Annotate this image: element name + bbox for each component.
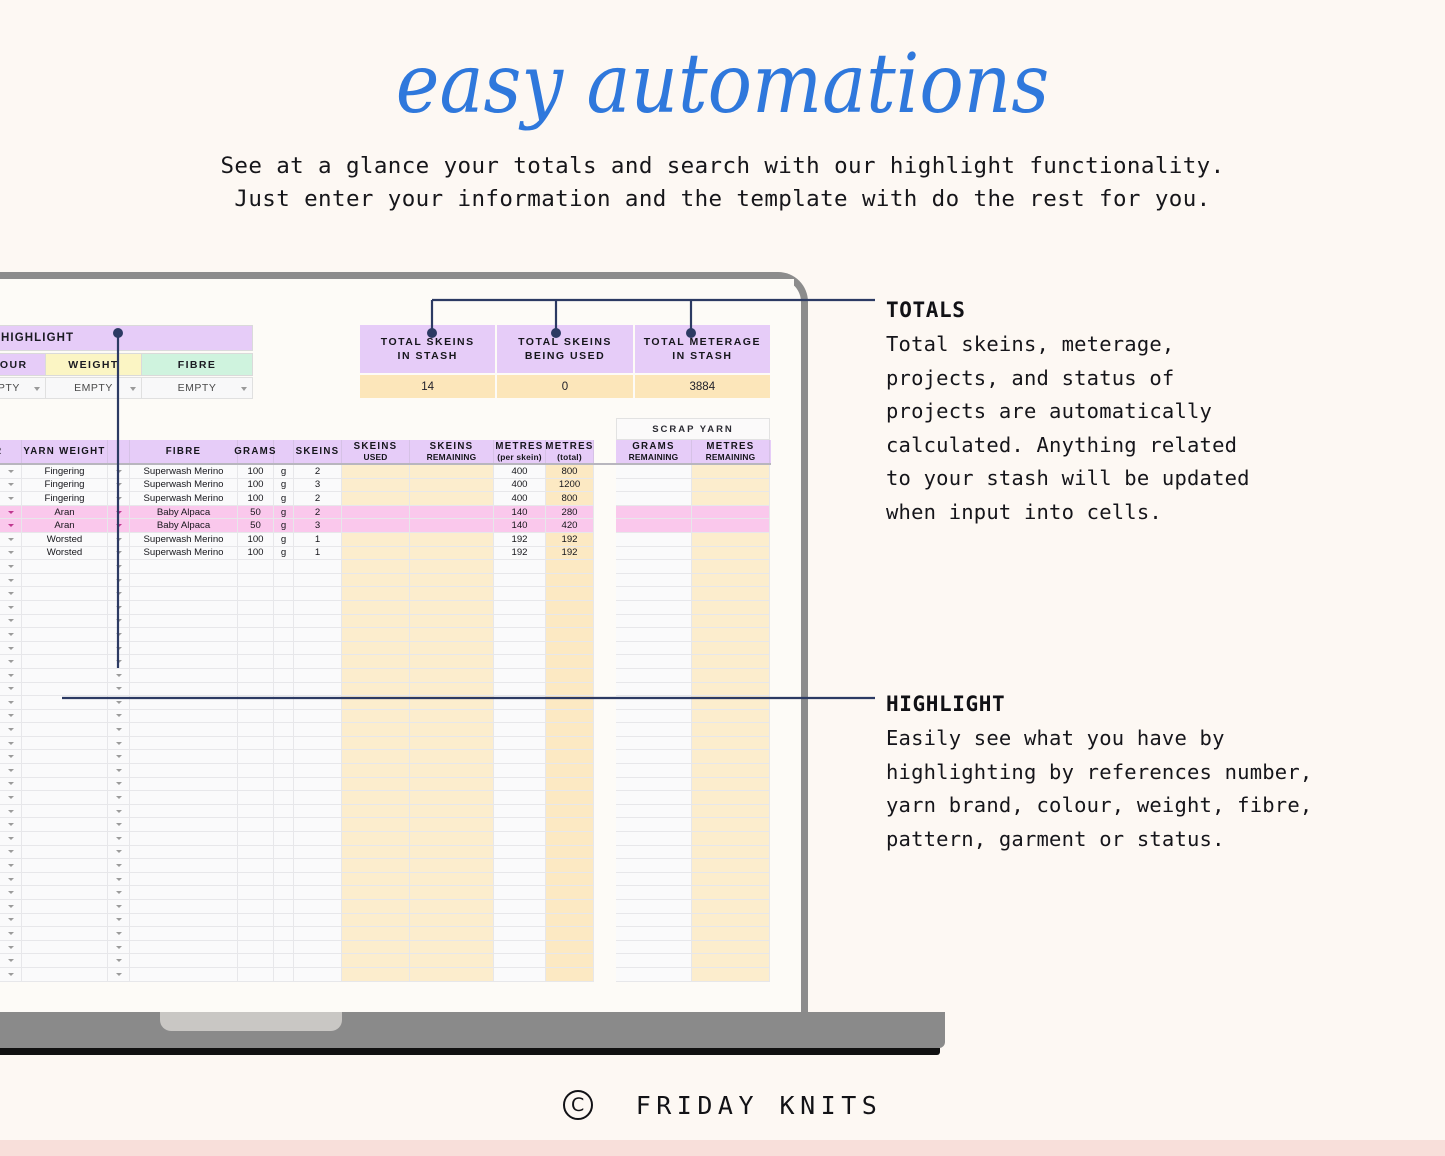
cell-yarn-weight[interactable]: Fingering <box>22 479 108 493</box>
cell-yarn-weight-dropdown[interactable] <box>108 832 130 846</box>
cell-metres-per-skein[interactable]: 140 <box>494 506 546 520</box>
cell-metres-per-skein[interactable] <box>494 710 546 724</box>
cell-metres-per-skein[interactable] <box>494 560 546 574</box>
cell-skeins[interactable] <box>294 914 342 928</box>
cell-fibre[interactable] <box>130 846 238 860</box>
cell-colour-dropdown[interactable] <box>0 642 22 656</box>
cell-yarn-weight[interactable] <box>22 968 108 982</box>
cell-skeins[interactable] <box>294 832 342 846</box>
cell-colour-dropdown[interactable] <box>0 465 22 479</box>
cell-metres-per-skein[interactable] <box>494 750 546 764</box>
cell-fibre[interactable] <box>130 628 238 642</box>
cell-grams[interactable] <box>238 574 274 588</box>
cell-metres-per-skein[interactable]: 400 <box>494 492 546 506</box>
cell-fibre[interactable] <box>130 601 238 615</box>
table-row-empty[interactable] <box>0 723 771 737</box>
cell-colour-dropdown[interactable] <box>0 615 22 629</box>
cell-grams[interactable]: 100 <box>238 547 274 561</box>
cell-fibre[interactable] <box>130 723 238 737</box>
cell-colour-dropdown[interactable] <box>0 859 22 873</box>
cell-yarn-weight[interactable] <box>22 723 108 737</box>
table-row-empty[interactable] <box>0 710 771 724</box>
cell-colour-dropdown[interactable] <box>0 533 22 547</box>
cell-grams[interactable]: 50 <box>238 519 274 533</box>
cell-colour-dropdown[interactable] <box>0 560 22 574</box>
table-row[interactable]: FingeringSuperwash Merino100g2400800 <box>0 492 771 506</box>
cell-grams[interactable] <box>238 818 274 832</box>
cell-yarn-weight-dropdown[interactable] <box>108 519 130 533</box>
cell-grams[interactable] <box>238 791 274 805</box>
cell-yarn-weight[interactable] <box>22 669 108 683</box>
cell-grams[interactable] <box>238 805 274 819</box>
cell-yarn-weight[interactable] <box>22 628 108 642</box>
table-row[interactable]: AranBaby Alpaca50g3140420 <box>0 519 771 533</box>
cell-yarn-weight[interactable] <box>22 900 108 914</box>
cell-grams[interactable] <box>238 778 274 792</box>
cell-metres-per-skein[interactable] <box>494 886 546 900</box>
cell-metres-per-skein[interactable] <box>494 900 546 914</box>
cell-skeins[interactable] <box>294 968 342 982</box>
cell-skeins[interactable] <box>294 710 342 724</box>
cell-yarn-weight-dropdown[interactable] <box>108 927 130 941</box>
cell-metres-per-skein[interactable] <box>494 683 546 697</box>
cell-yarn-weight-dropdown[interactable] <box>108 615 130 629</box>
cell-metres-per-skein[interactable] <box>494 628 546 642</box>
cell-skeins[interactable] <box>294 601 342 615</box>
cell-yarn-weight-dropdown[interactable] <box>108 750 130 764</box>
cell-yarn-weight-dropdown[interactable] <box>108 587 130 601</box>
cell-skeins[interactable]: 3 <box>294 519 342 533</box>
cell-skeins[interactable] <box>294 696 342 710</box>
cell-skeins[interactable] <box>294 669 342 683</box>
cell-metres-per-skein[interactable] <box>494 764 546 778</box>
cell-grams[interactable] <box>238 968 274 982</box>
table-row-empty[interactable] <box>0 968 771 982</box>
table-row-empty[interactable] <box>0 587 771 601</box>
cell-colour-dropdown[interactable] <box>0 628 22 642</box>
cell-skeins[interactable] <box>294 655 342 669</box>
cell-colour-dropdown[interactable] <box>0 968 22 982</box>
cell-skeins[interactable] <box>294 927 342 941</box>
table-row-empty[interactable] <box>0 791 771 805</box>
cell-skeins[interactable] <box>294 873 342 887</box>
cell-yarn-weight[interactable] <box>22 655 108 669</box>
table-row[interactable]: FingeringSuperwash Merino100g2400800 <box>0 465 771 479</box>
cell-yarn-weight[interactable]: Aran <box>22 519 108 533</box>
cell-grams[interactable] <box>238 655 274 669</box>
table-row-empty[interactable] <box>0 873 771 887</box>
cell-skeins[interactable]: 2 <box>294 465 342 479</box>
cell-metres-per-skein[interactable] <box>494 642 546 656</box>
cell-yarn-weight-dropdown[interactable] <box>108 465 130 479</box>
cell-yarn-weight-dropdown[interactable] <box>108 805 130 819</box>
cell-yarn-weight[interactable] <box>22 859 108 873</box>
cell-colour-dropdown[interactable] <box>0 791 22 805</box>
cell-colour-dropdown[interactable] <box>0 547 22 561</box>
cell-yarn-weight[interactable]: Fingering <box>22 492 108 506</box>
cell-yarn-weight[interactable] <box>22 832 108 846</box>
table-row-empty[interactable] <box>0 655 771 669</box>
cell-yarn-weight[interactable] <box>22 927 108 941</box>
cell-metres-per-skein[interactable]: 400 <box>494 479 546 493</box>
cell-skeins[interactable] <box>294 791 342 805</box>
cell-yarn-weight-dropdown[interactable] <box>108 900 130 914</box>
cell-grams[interactable]: 50 <box>238 506 274 520</box>
cell-skeins[interactable] <box>294 764 342 778</box>
table-row-empty[interactable] <box>0 846 771 860</box>
cell-fibre[interactable] <box>130 683 238 697</box>
cell-grams[interactable] <box>238 927 274 941</box>
table-row-empty[interactable] <box>0 764 771 778</box>
cell-colour-dropdown[interactable] <box>0 764 22 778</box>
table-row-empty[interactable] <box>0 574 771 588</box>
cell-grams[interactable] <box>238 859 274 873</box>
table-row-empty[interactable] <box>0 954 771 968</box>
cell-colour-dropdown[interactable] <box>0 778 22 792</box>
cell-yarn-weight[interactable] <box>22 818 108 832</box>
table-row-empty[interactable] <box>0 642 771 656</box>
cell-skeins[interactable] <box>294 574 342 588</box>
cell-yarn-weight-dropdown[interactable] <box>108 696 130 710</box>
cell-skeins[interactable]: 2 <box>294 492 342 506</box>
cell-skeins[interactable] <box>294 778 342 792</box>
cell-yarn-weight[interactable] <box>22 778 108 792</box>
cell-metres-per-skein[interactable]: 192 <box>494 533 546 547</box>
cell-yarn-weight[interactable] <box>22 683 108 697</box>
cell-colour-dropdown[interactable] <box>0 846 22 860</box>
table-row-empty[interactable] <box>0 832 771 846</box>
cell-yarn-weight-dropdown[interactable] <box>108 954 130 968</box>
cell-yarn-weight-dropdown[interactable] <box>108 737 130 751</box>
cell-grams[interactable] <box>238 941 274 955</box>
cell-yarn-weight[interactable] <box>22 764 108 778</box>
cell-metres-per-skein[interactable] <box>494 574 546 588</box>
cell-metres-per-skein[interactable] <box>494 696 546 710</box>
cell-yarn-weight-dropdown[interactable] <box>108 628 130 642</box>
cell-yarn-weight[interactable] <box>22 737 108 751</box>
cell-skeins[interactable] <box>294 615 342 629</box>
cell-yarn-weight-dropdown[interactable] <box>108 886 130 900</box>
cell-skeins[interactable]: 1 <box>294 547 342 561</box>
table-row[interactable]: WorstedSuperwash Merino100g1192192 <box>0 547 771 561</box>
cell-metres-per-skein[interactable] <box>494 832 546 846</box>
cell-metres-per-skein[interactable] <box>494 873 546 887</box>
cell-yarn-weight-dropdown[interactable] <box>108 560 130 574</box>
cell-metres-per-skein[interactable] <box>494 601 546 615</box>
cell-colour-dropdown[interactable] <box>0 805 22 819</box>
table-row-empty[interactable] <box>0 818 771 832</box>
cell-colour-dropdown[interactable] <box>0 723 22 737</box>
cell-fibre[interactable]: Baby Alpaca <box>130 519 238 533</box>
cell-metres-per-skein[interactable] <box>494 723 546 737</box>
cell-yarn-weight[interactable]: Fingering <box>22 465 108 479</box>
table-row[interactable]: WorstedSuperwash Merino100g1192192 <box>0 533 771 547</box>
table-row-empty[interactable] <box>0 886 771 900</box>
cell-skeins[interactable] <box>294 859 342 873</box>
table-row[interactable]: FingeringSuperwash Merino100g34001200 <box>0 479 771 493</box>
cell-yarn-weight-dropdown[interactable] <box>108 533 130 547</box>
table-row-empty[interactable] <box>0 805 771 819</box>
cell-colour-dropdown[interactable] <box>0 574 22 588</box>
cell-fibre[interactable] <box>130 873 238 887</box>
cell-yarn-weight-dropdown[interactable] <box>108 683 130 697</box>
table-row-empty[interactable] <box>0 927 771 941</box>
cell-yarn-weight-dropdown[interactable] <box>108 601 130 615</box>
cell-fibre[interactable]: Superwash Merino <box>130 547 238 561</box>
cell-metres-per-skein[interactable]: 140 <box>494 519 546 533</box>
cell-skeins[interactable]: 3 <box>294 479 342 493</box>
cell-fibre[interactable] <box>130 914 238 928</box>
cell-grams[interactable] <box>238 914 274 928</box>
cell-grams[interactable] <box>238 900 274 914</box>
cell-skeins[interactable] <box>294 683 342 697</box>
cell-skeins[interactable] <box>294 642 342 656</box>
cell-colour-dropdown[interactable] <box>0 506 22 520</box>
cell-yarn-weight-dropdown[interactable] <box>108 492 130 506</box>
cell-grams[interactable] <box>238 601 274 615</box>
cell-grams[interactable]: 100 <box>238 465 274 479</box>
cell-fibre[interactable] <box>130 832 238 846</box>
cell-grams[interactable]: 100 <box>238 533 274 547</box>
cell-fibre[interactable] <box>130 642 238 656</box>
cell-fibre[interactable] <box>130 954 238 968</box>
cell-skeins[interactable] <box>294 900 342 914</box>
cell-yarn-weight[interactable] <box>22 791 108 805</box>
cell-colour-dropdown[interactable] <box>0 492 22 506</box>
cell-fibre[interactable]: Baby Alpaca <box>130 506 238 520</box>
table-row-empty[interactable] <box>0 560 771 574</box>
cell-colour-dropdown[interactable] <box>0 914 22 928</box>
cell-fibre[interactable] <box>130 750 238 764</box>
cell-metres-per-skein[interactable] <box>494 859 546 873</box>
cell-metres-per-skein[interactable] <box>494 778 546 792</box>
cell-yarn-weight-dropdown[interactable] <box>108 642 130 656</box>
cell-fibre[interactable] <box>130 805 238 819</box>
cell-grams[interactable] <box>238 873 274 887</box>
cell-colour-dropdown[interactable] <box>0 941 22 955</box>
cell-fibre[interactable] <box>130 859 238 873</box>
cell-fibre[interactable] <box>130 737 238 751</box>
cell-yarn-weight[interactable] <box>22 560 108 574</box>
cell-skeins[interactable] <box>294 954 342 968</box>
table-row-empty[interactable] <box>0 900 771 914</box>
cell-metres-per-skein[interactable] <box>494 655 546 669</box>
cell-skeins[interactable] <box>294 846 342 860</box>
table-row-empty[interactable] <box>0 601 771 615</box>
filter-select-weight[interactable]: EMPTY <box>46 377 142 399</box>
cell-yarn-weight[interactable] <box>22 941 108 955</box>
table-row-empty[interactable] <box>0 778 771 792</box>
cell-fibre[interactable]: Superwash Merino <box>130 533 238 547</box>
cell-fibre[interactable]: Superwash Merino <box>130 492 238 506</box>
cell-colour-dropdown[interactable] <box>0 832 22 846</box>
cell-yarn-weight-dropdown[interactable] <box>108 506 130 520</box>
cell-fibre[interactable] <box>130 927 238 941</box>
table-row-empty[interactable] <box>0 628 771 642</box>
cell-metres-per-skein[interactable] <box>494 791 546 805</box>
cell-grams[interactable] <box>238 886 274 900</box>
cell-yarn-weight[interactable]: Worsted <box>22 533 108 547</box>
cell-metres-per-skein[interactable] <box>494 927 546 941</box>
cell-skeins[interactable] <box>294 560 342 574</box>
cell-yarn-weight[interactable] <box>22 615 108 629</box>
cell-skeins[interactable] <box>294 818 342 832</box>
cell-metres-per-skein[interactable] <box>494 914 546 928</box>
table-row-empty[interactable] <box>0 669 771 683</box>
cell-yarn-weight[interactable] <box>22 574 108 588</box>
cell-metres-per-skein[interactable] <box>494 805 546 819</box>
cell-yarn-weight[interactable] <box>22 873 108 887</box>
cell-metres-per-skein[interactable]: 400 <box>494 465 546 479</box>
cell-yarn-weight-dropdown[interactable] <box>108 723 130 737</box>
cell-fibre[interactable] <box>130 778 238 792</box>
cell-colour-dropdown[interactable] <box>0 655 22 669</box>
cell-yarn-weight-dropdown[interactable] <box>108 941 130 955</box>
cell-yarn-weight[interactable] <box>22 710 108 724</box>
cell-yarn-weight[interactable] <box>22 587 108 601</box>
cell-yarn-weight[interactable] <box>22 886 108 900</box>
cell-fibre[interactable] <box>130 615 238 629</box>
cell-fibre[interactable] <box>130 669 238 683</box>
cell-fibre[interactable] <box>130 710 238 724</box>
cell-colour-dropdown[interactable] <box>0 710 22 724</box>
cell-skeins[interactable] <box>294 737 342 751</box>
cell-skeins[interactable] <box>294 886 342 900</box>
cell-fibre[interactable]: Superwash Merino <box>130 479 238 493</box>
cell-colour-dropdown[interactable] <box>0 818 22 832</box>
cell-metres-per-skein[interactable] <box>494 846 546 860</box>
cell-skeins[interactable] <box>294 750 342 764</box>
cell-fibre[interactable] <box>130 968 238 982</box>
cell-grams[interactable] <box>238 683 274 697</box>
cell-yarn-weight-dropdown[interactable] <box>108 846 130 860</box>
cell-grams[interactable] <box>238 696 274 710</box>
table-row-empty[interactable] <box>0 750 771 764</box>
cell-fibre[interactable] <box>130 941 238 955</box>
cell-fibre[interactable] <box>130 818 238 832</box>
cell-fibre[interactable] <box>130 791 238 805</box>
cell-skeins[interactable] <box>294 723 342 737</box>
cell-grams[interactable] <box>238 669 274 683</box>
cell-grams[interactable] <box>238 615 274 629</box>
cell-colour-dropdown[interactable] <box>0 519 22 533</box>
cell-colour-dropdown[interactable] <box>0 927 22 941</box>
cell-metres-per-skein[interactable] <box>494 941 546 955</box>
cell-colour-dropdown[interactable] <box>0 954 22 968</box>
cell-fibre[interactable] <box>130 886 238 900</box>
cell-grams[interactable] <box>238 846 274 860</box>
cell-yarn-weight-dropdown[interactable] <box>108 859 130 873</box>
table-row-empty[interactable] <box>0 941 771 955</box>
cell-metres-per-skein[interactable] <box>494 615 546 629</box>
cell-grams[interactable]: 100 <box>238 479 274 493</box>
cell-fibre[interactable] <box>130 764 238 778</box>
cell-grams[interactable] <box>238 954 274 968</box>
cell-metres-per-skein[interactable]: 192 <box>494 547 546 561</box>
cell-colour-dropdown[interactable] <box>0 750 22 764</box>
cell-grams[interactable] <box>238 587 274 601</box>
table-row-empty[interactable] <box>0 683 771 697</box>
cell-grams[interactable] <box>238 737 274 751</box>
cell-metres-per-skein[interactable] <box>494 954 546 968</box>
cell-fibre[interactable] <box>130 900 238 914</box>
cell-colour-dropdown[interactable] <box>0 737 22 751</box>
table-row-empty[interactable] <box>0 615 771 629</box>
cell-skeins[interactable] <box>294 628 342 642</box>
cell-grams[interactable]: 100 <box>238 492 274 506</box>
cell-colour-dropdown[interactable] <box>0 669 22 683</box>
cell-yarn-weight-dropdown[interactable] <box>108 764 130 778</box>
cell-fibre[interactable] <box>130 587 238 601</box>
cell-yarn-weight[interactable] <box>22 601 108 615</box>
cell-fibre[interactable]: Superwash Merino <box>130 465 238 479</box>
cell-fibre[interactable] <box>130 696 238 710</box>
cell-fibre[interactable] <box>130 655 238 669</box>
cell-yarn-weight[interactable] <box>22 846 108 860</box>
cell-colour-dropdown[interactable] <box>0 683 22 697</box>
table-row-empty[interactable] <box>0 696 771 710</box>
cell-colour-dropdown[interactable] <box>0 886 22 900</box>
cell-yarn-weight-dropdown[interactable] <box>108 873 130 887</box>
table-row[interactable]: AranBaby Alpaca50g2140280 <box>0 506 771 520</box>
cell-yarn-weight[interactable] <box>22 805 108 819</box>
cell-yarn-weight[interactable]: Worsted <box>22 547 108 561</box>
cell-colour-dropdown[interactable] <box>0 479 22 493</box>
filter-select-fibre[interactable]: EMPTY <box>142 377 253 399</box>
cell-yarn-weight[interactable] <box>22 696 108 710</box>
cell-yarn-weight-dropdown[interactable] <box>108 968 130 982</box>
cell-yarn-weight-dropdown[interactable] <box>108 547 130 561</box>
filter-select-colour[interactable]: EMPTY <box>0 377 46 399</box>
cell-colour-dropdown[interactable] <box>0 873 22 887</box>
cell-metres-per-skein[interactable] <box>494 669 546 683</box>
cell-grams[interactable] <box>238 764 274 778</box>
cell-yarn-weight[interactable] <box>22 954 108 968</box>
cell-yarn-weight-dropdown[interactable] <box>108 479 130 493</box>
cell-yarn-weight[interactable] <box>22 642 108 656</box>
cell-yarn-weight-dropdown[interactable] <box>108 655 130 669</box>
cell-grams[interactable] <box>238 628 274 642</box>
table-row-empty[interactable] <box>0 737 771 751</box>
cell-grams[interactable] <box>238 710 274 724</box>
cell-yarn-weight-dropdown[interactable] <box>108 574 130 588</box>
cell-yarn-weight-dropdown[interactable] <box>108 778 130 792</box>
cell-grams[interactable] <box>238 560 274 574</box>
cell-skeins[interactable]: 2 <box>294 506 342 520</box>
cell-colour-dropdown[interactable] <box>0 587 22 601</box>
cell-yarn-weight-dropdown[interactable] <box>108 914 130 928</box>
cell-yarn-weight-dropdown[interactable] <box>108 669 130 683</box>
cell-grams[interactable] <box>238 723 274 737</box>
cell-skeins[interactable] <box>294 805 342 819</box>
table-row-empty[interactable] <box>0 859 771 873</box>
cell-colour-dropdown[interactable] <box>0 900 22 914</box>
cell-grams[interactable] <box>238 832 274 846</box>
cell-fibre[interactable] <box>130 560 238 574</box>
cell-grams[interactable] <box>238 750 274 764</box>
cell-metres-per-skein[interactable] <box>494 737 546 751</box>
cell-yarn-weight[interactable] <box>22 914 108 928</box>
table-row-empty[interactable] <box>0 914 771 928</box>
cell-yarn-weight[interactable] <box>22 750 108 764</box>
cell-metres-per-skein[interactable] <box>494 968 546 982</box>
cell-yarn-weight-dropdown[interactable] <box>108 791 130 805</box>
cell-yarn-weight[interactable]: Aran <box>22 506 108 520</box>
cell-skeins[interactable]: 1 <box>294 533 342 547</box>
cell-colour-dropdown[interactable] <box>0 696 22 710</box>
cell-yarn-weight-dropdown[interactable] <box>108 710 130 724</box>
cell-fibre[interactable] <box>130 574 238 588</box>
